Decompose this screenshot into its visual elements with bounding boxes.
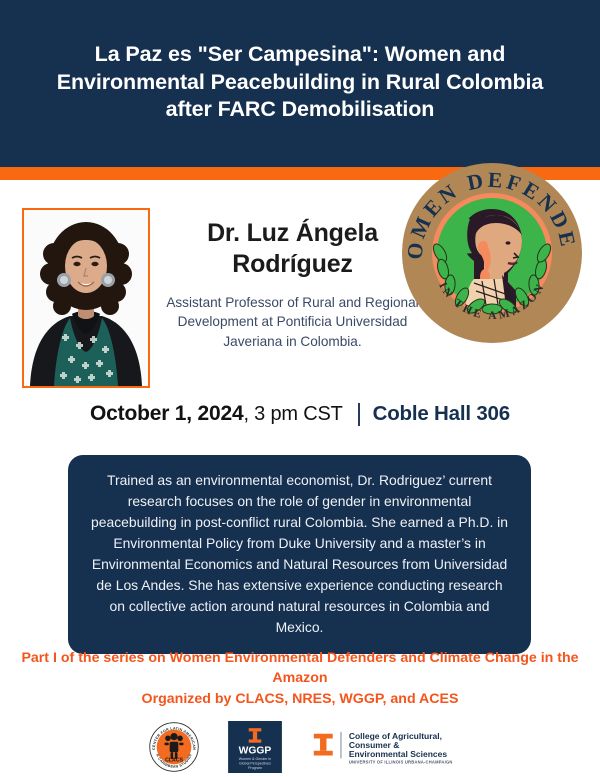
speaker-bio-box: Trained as an environmental economist, D…: [68, 455, 531, 654]
dateline-divider: [358, 403, 360, 426]
wggp-logo: WGGP Women & Gender in Global Perspectiv…: [228, 721, 282, 773]
speaker-info: Dr. Luz Ángela Rodríguez Assistant Profe…: [160, 218, 425, 351]
speaker-name: Dr. Luz Ángela Rodríguez: [160, 218, 425, 279]
aces-divider: [340, 731, 341, 758]
wggp-acronym: WGGP: [239, 745, 272, 756]
speaker-photo-frame: [22, 208, 150, 388]
series-note: Part I of the series on Women Environmen…: [0, 649, 600, 710]
event-location: Coble Hall 306: [373, 402, 510, 426]
clacs-acronym: CLACS: [165, 757, 183, 763]
poster-title: La Paz es "Ser Campesina": Women and Env…: [34, 41, 566, 125]
aces-university: UNIVERSITY OF ILLINOIS URBANA-CHAMPAIGN: [349, 759, 452, 764]
women-defenders-badge: WOMEN DEFENDERS IN THE AMAZON: [396, 157, 588, 349]
sponsor-logo-row: CLACS CENTER FOR LATIN AMERICAN & CARIBB…: [0, 716, 600, 777]
speaker-photo: [24, 210, 148, 386]
aces-line-3: Environmental Sciences: [349, 748, 448, 758]
wggp-subtitle-1: Women & Gender in: [239, 757, 271, 761]
illinois-block-i-icon: [314, 733, 333, 755]
event-date: October 1, 2024: [90, 402, 243, 426]
clacs-logo: CLACS CENTER FOR LATIN AMERICAN & CARIBB…: [148, 721, 200, 773]
women-defenders-badge-graphic: WOMEN DEFENDERS IN THE AMAZON: [396, 157, 588, 349]
speaker-bio-text: Trained as an environmental economist, D…: [90, 470, 509, 638]
event-details-line: October 1, 2024 , 3 pm CST Coble Hall 30…: [0, 402, 600, 426]
poster-header: La Paz es "Ser Campesina": Women and Env…: [0, 0, 600, 167]
wggp-subtitle-2: Global Perspectives: [239, 761, 271, 765]
event-poster: La Paz es "Ser Campesina": Women and Env…: [0, 0, 600, 777]
series-line-1: Part I of the series on Women Environmen…: [0, 649, 600, 688]
event-time: , 3 pm CST: [243, 403, 342, 426]
aces-logo: College of Agricultural, Consumer & Envi…: [310, 726, 452, 768]
series-line-2: Organized by CLACS, NRES, WGGP, and ACES: [0, 690, 600, 710]
speaker-affiliation: Assistant Professor of Rural and Regiona…: [160, 293, 425, 351]
wggp-subtitle-3: Program: [248, 765, 262, 769]
